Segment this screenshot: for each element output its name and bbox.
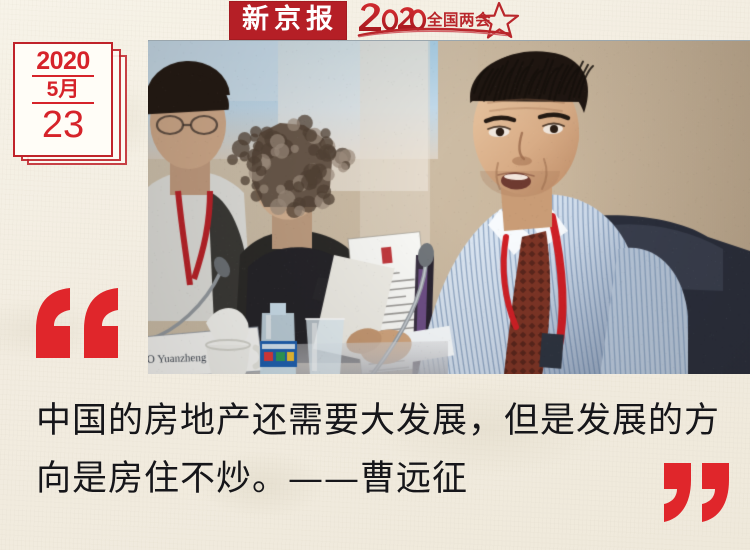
quote-open-mark xyxy=(34,286,124,360)
quote-text-block: 中国的房地产还需要大发展，但是发展的方 向是房住不炒。——曹远征 xyxy=(36,392,666,508)
svg-text:全国两会: 全国两会 xyxy=(426,10,491,29)
campaign-label-text: 全国两会 xyxy=(426,10,491,29)
swoosh-icon xyxy=(359,29,509,35)
brand-logo-xinjingbao[interactable]: 新京报 xyxy=(229,1,347,40)
date-year: 2020 xyxy=(36,48,90,74)
masthead: 新京报 xyxy=(0,0,750,40)
news-photo xyxy=(148,40,750,374)
campaign-year-text xyxy=(359,3,381,31)
date-month: 5月 xyxy=(47,78,80,101)
quote-close-icon xyxy=(663,462,733,524)
date-card-stack: 2020 5月 23 xyxy=(13,42,133,167)
quote-open-icon xyxy=(34,286,124,360)
campaign-logo-svg: 全国两会 xyxy=(357,0,527,40)
quote-line-1: 中国的房地产还需要大发展，但是发展的方 xyxy=(36,392,666,450)
quote-line-2: 向是房住不炒。——曹远征 xyxy=(36,450,666,508)
quote-close-mark xyxy=(663,462,733,524)
date-divider-top xyxy=(32,75,94,77)
date-day: 23 xyxy=(42,106,84,145)
news-quote-poster: 新京报 xyxy=(0,0,750,550)
campaign-logo-two-sessions[interactable]: 全国两会 xyxy=(357,0,527,40)
date-card: 2020 5月 23 xyxy=(13,42,113,157)
news-photo-canvas xyxy=(148,41,750,374)
masthead-inner: 新京报 xyxy=(229,0,527,40)
